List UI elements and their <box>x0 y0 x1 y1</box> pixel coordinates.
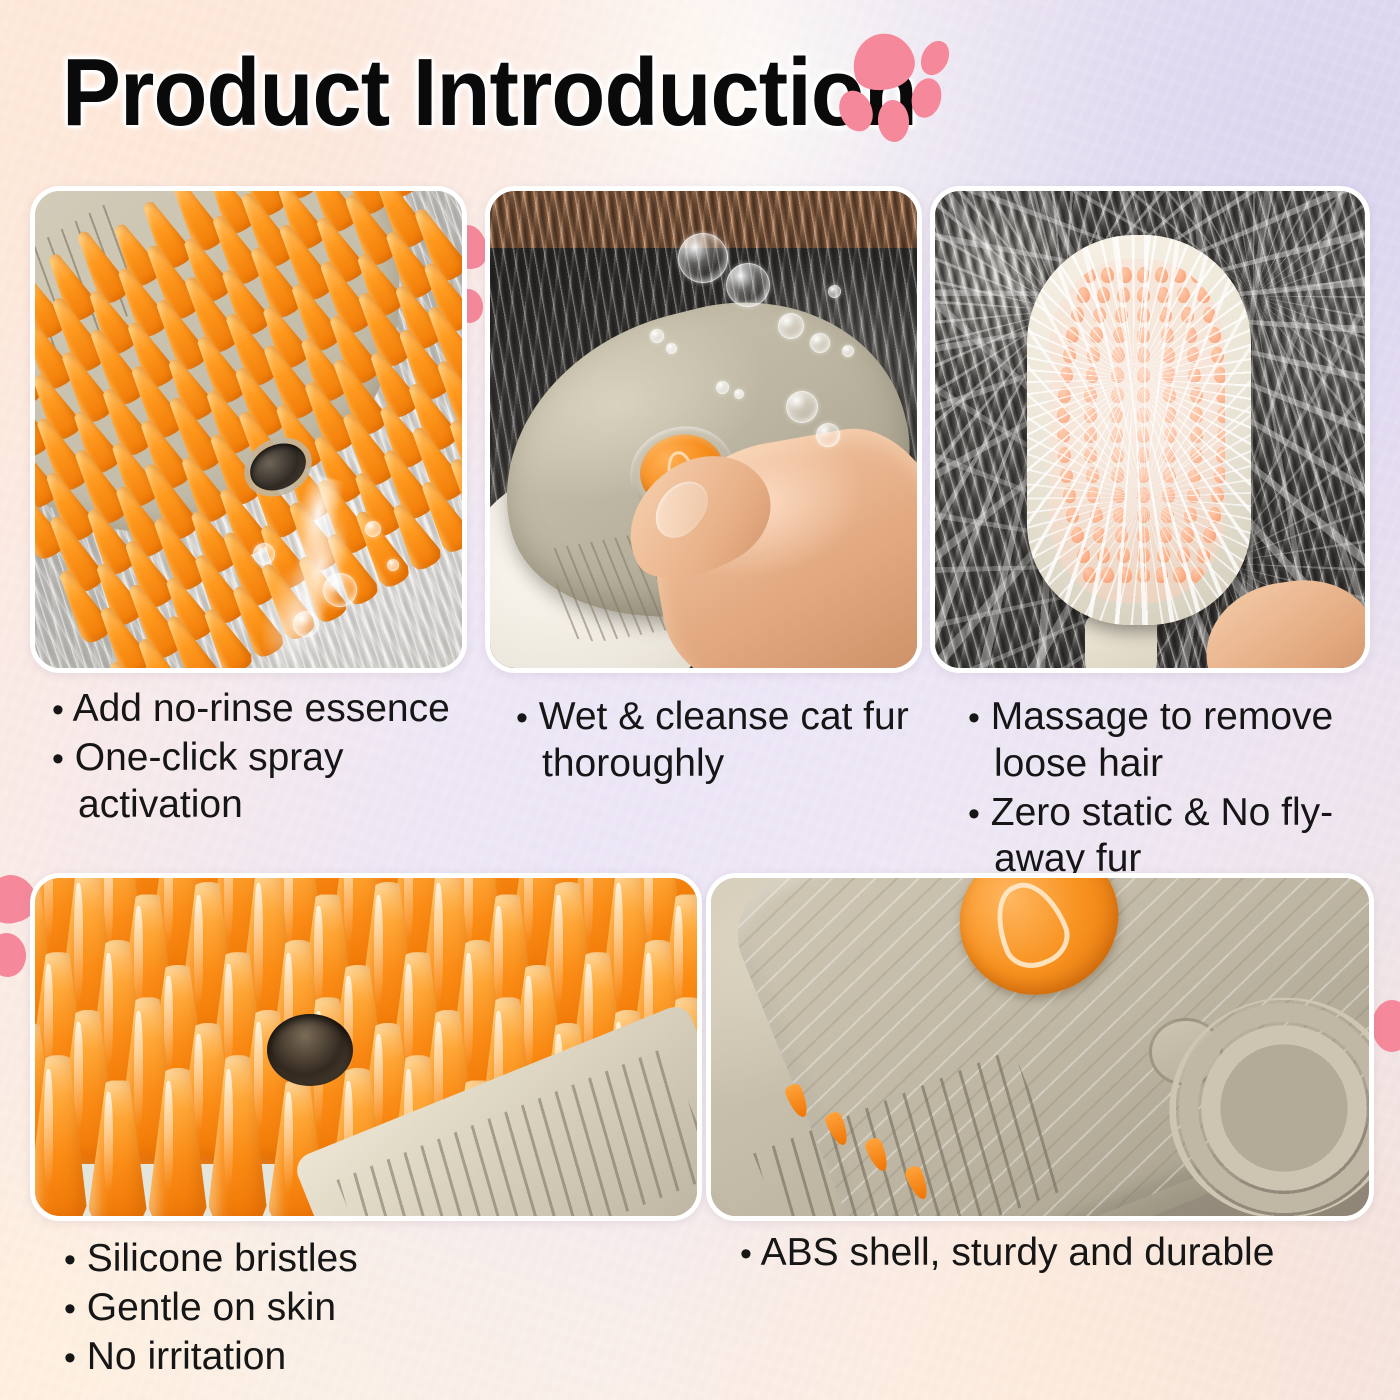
bullet-text: Wet & cleanse cat fur thoroughly <box>539 695 909 785</box>
bullet-text: Silicone bristles <box>87 1237 358 1280</box>
bullet-glyph: • <box>968 699 980 737</box>
bullet-text: Massage to remove loose hair <box>991 695 1334 785</box>
bullet-item: • Add no-rinse essence <box>52 686 472 733</box>
bullet-text: One-click spray activation <box>75 736 344 826</box>
feature-grid: • Add no-rinse essence • One-click spray… <box>0 0 1400 1400</box>
header: Product Introduction <box>0 0 1400 175</box>
bubble <box>716 381 729 394</box>
bullet-glyph: • <box>64 1241 76 1279</box>
caption-spray: • Add no-rinse essence • One-click spray… <box>52 686 472 830</box>
bullet-glyph: • <box>64 1339 76 1377</box>
bullet-glyph: • <box>64 1290 76 1328</box>
bubble <box>650 329 664 343</box>
feature-image-bristles <box>30 873 702 1221</box>
paw-toe <box>833 86 878 137</box>
bullet-glyph: • <box>516 699 528 737</box>
scene-abs-shell <box>711 878 1369 1216</box>
caption-cleanse: • Wet & cleanse cat fur thoroughly <box>516 694 916 790</box>
bullet-glyph: • <box>52 740 64 778</box>
bullet-text: Zero static & No fly-away fur <box>991 791 1333 881</box>
bubble <box>365 521 381 537</box>
bullet-item: • Gentle on skin <box>64 1285 514 1332</box>
bullet-item: • Zero static & No fly-away fur <box>968 790 1368 884</box>
bullet-text: No irritation <box>87 1335 286 1378</box>
bullet-item: • Silicone bristles <box>64 1236 514 1283</box>
bullet-glyph: • <box>52 691 64 729</box>
scene-loose-hair <box>935 191 1365 668</box>
bubble <box>323 573 357 607</box>
page-title: Product Introduction <box>62 38 917 148</box>
bullet-glyph: • <box>740 1235 752 1273</box>
paw-pad <box>845 26 921 98</box>
steam-nozzle-icon <box>267 1014 353 1086</box>
bullet-item: • ABS shell, sturdy and durable <box>740 1230 1300 1277</box>
scene-bristles <box>35 878 697 1216</box>
bubble <box>786 391 818 423</box>
bullet-item: • Massage to remove loose hair <box>968 694 1368 788</box>
bullet-item: • Wet & cleanse cat fur thoroughly <box>516 694 916 788</box>
feature-image-spray <box>30 186 467 673</box>
bubble <box>387 559 399 571</box>
bullet-text: Gentle on skin <box>87 1286 336 1329</box>
caption-abs-shell: • ABS shell, sturdy and durable <box>740 1230 1300 1279</box>
bubble <box>778 313 804 339</box>
caption-loose-hair: • Massage to remove loose hair • Zero st… <box>968 694 1368 885</box>
bubble <box>810 333 830 353</box>
bullet-item: • One-click spray activation <box>52 735 472 829</box>
thumbnail <box>645 471 718 547</box>
bubble <box>828 285 841 298</box>
feature-image-cleanse <box>485 186 922 673</box>
feature-image-abs-shell <box>706 873 1374 1221</box>
caption-bristles: • Silicone bristles • Gentle on skin • N… <box>64 1236 514 1382</box>
paw-print-icon <box>838 28 943 136</box>
bubble <box>678 233 728 283</box>
collected-loose-hair <box>1027 235 1251 625</box>
scene-spray <box>35 191 462 668</box>
brush-head <box>1027 235 1251 625</box>
bubble <box>842 345 854 357</box>
bubble <box>726 263 770 307</box>
feature-image-loose-hair <box>930 186 1370 673</box>
bristle-field <box>35 191 462 668</box>
bubble <box>666 343 677 354</box>
bubble <box>253 543 275 565</box>
bubble <box>816 423 840 447</box>
bullet-item: • No irritation <box>64 1334 514 1381</box>
scene-cleanse <box>490 191 917 668</box>
bullet-text: Add no-rinse essence <box>73 687 450 730</box>
bullet-text: ABS shell, sturdy and durable <box>761 1231 1275 1274</box>
bubble <box>734 389 744 399</box>
bullet-glyph: • <box>968 795 980 833</box>
bubble <box>293 611 319 637</box>
paw-toe <box>908 75 946 121</box>
